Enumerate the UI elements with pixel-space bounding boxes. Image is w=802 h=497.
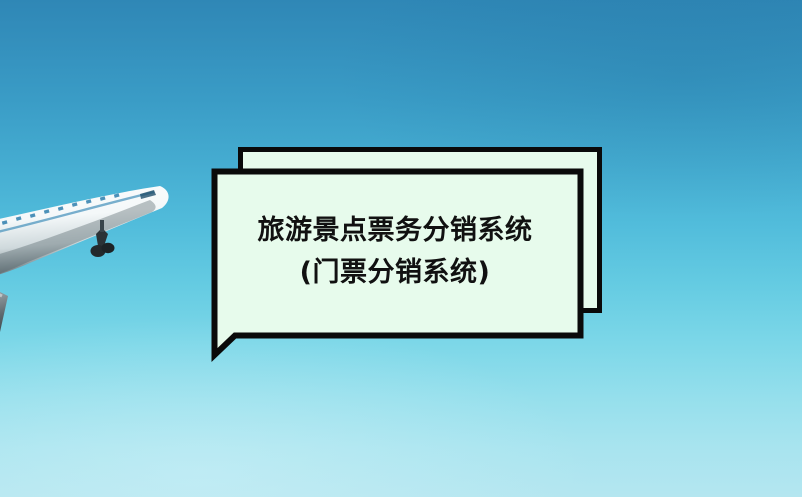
speech-bubble-shape: [205, 162, 590, 362]
airplane-wing: [0, 268, 8, 364]
speech-bubble-outline: [215, 172, 581, 356]
airplane-icon: [0, 150, 182, 410]
callout-speech-bubble: [205, 162, 590, 362]
slide-canvas: 旅游景点票务分销系统 (门票分销系统): [0, 0, 802, 497]
airplane-photo: [0, 150, 182, 410]
